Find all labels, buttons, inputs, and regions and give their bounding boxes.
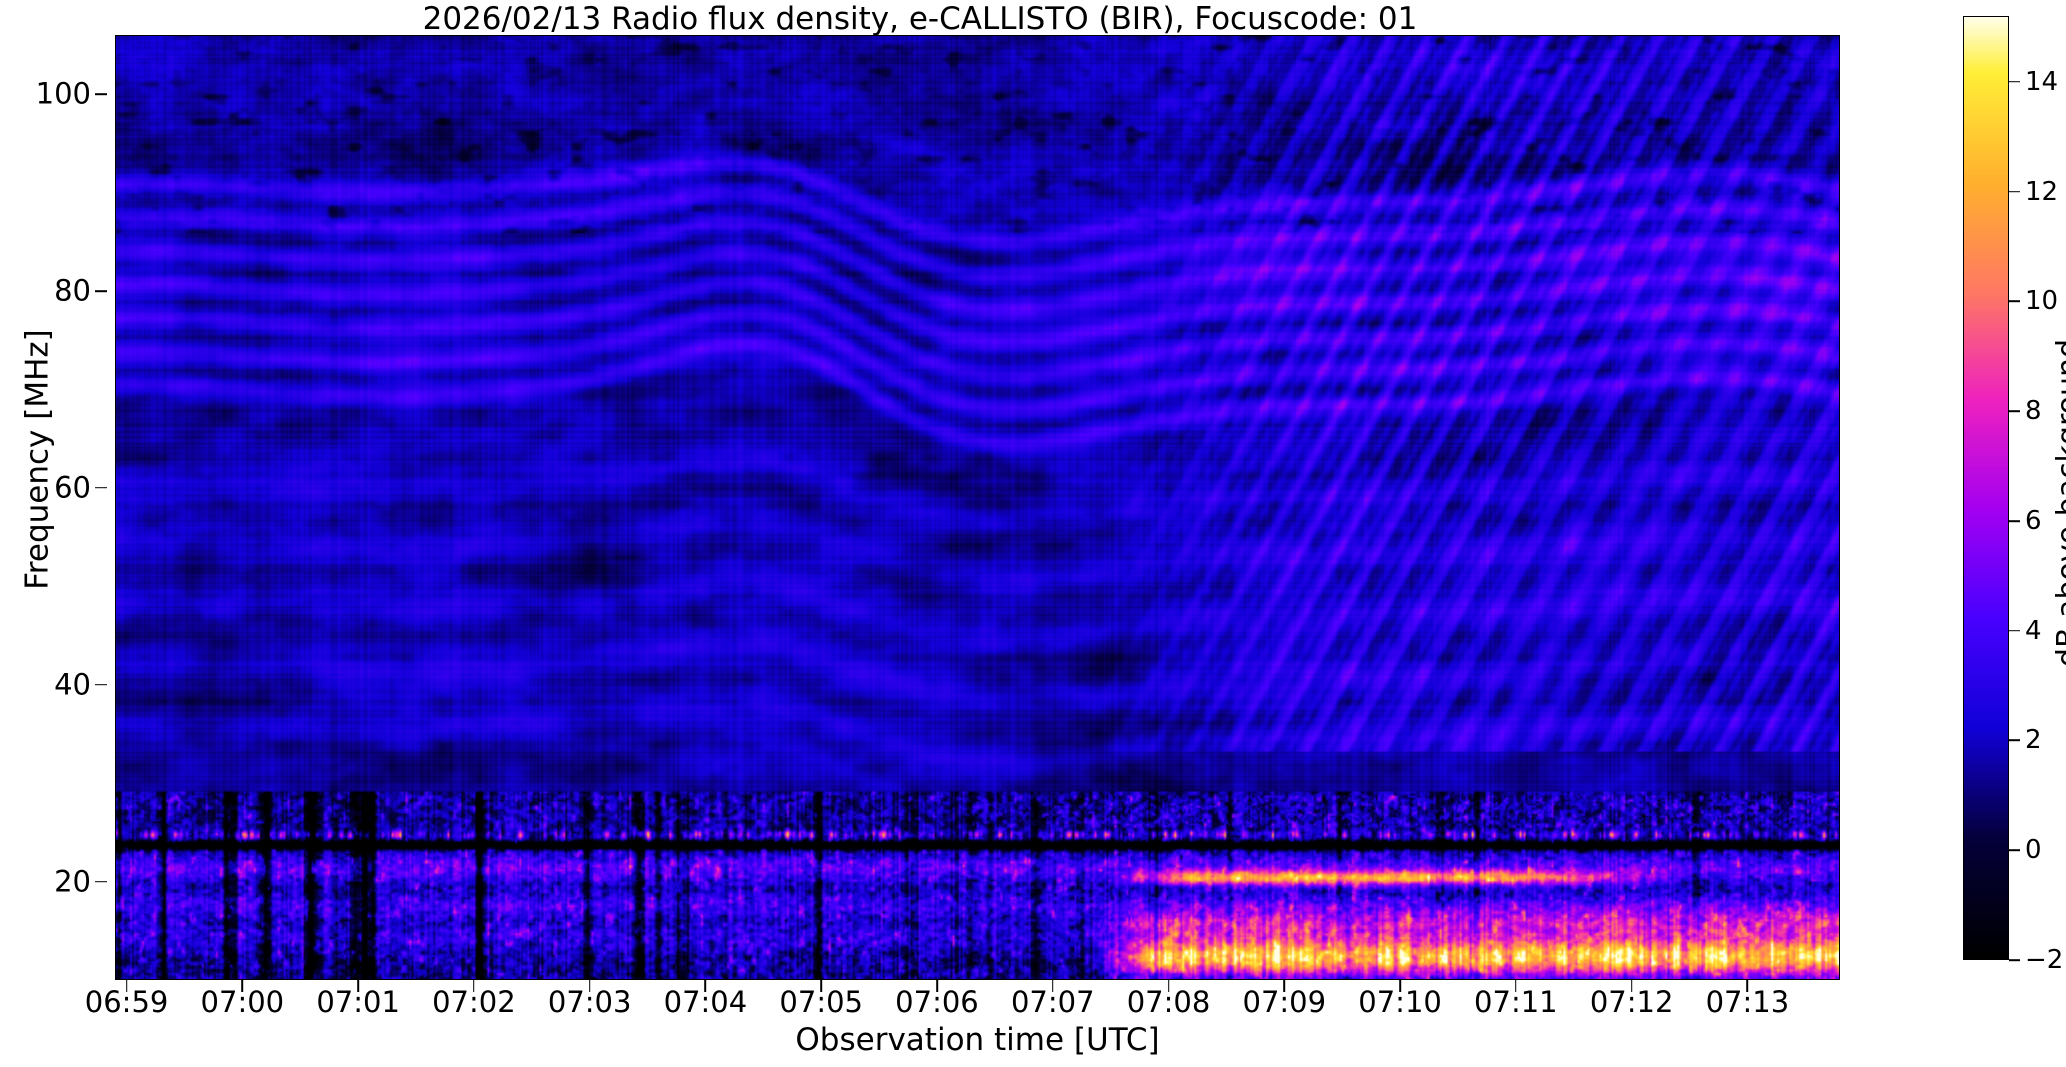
x-tick-mark <box>1399 980 1401 992</box>
colorbar-tick-mark <box>2009 410 2020 412</box>
colorbar-tick-label: 6 <box>2025 508 2042 534</box>
colorbar-tick-label: 8 <box>2025 398 2042 424</box>
x-tick-label: 07:07 <box>1011 988 1095 1017</box>
x-tick-label: 07:11 <box>1474 988 1558 1017</box>
x-tick-mark <box>473 980 475 992</box>
colorbar-title: dB above background <box>2054 263 2066 743</box>
x-tick-mark <box>1052 980 1054 992</box>
spectrogram-image <box>116 36 1839 979</box>
colorbar-tick-mark <box>2009 520 2020 522</box>
colorbar-tick-label: 12 <box>2025 179 2058 205</box>
colorbar-tick-mark <box>2009 81 2020 83</box>
x-tick-label: 07:10 <box>1358 988 1442 1017</box>
colorbar-tick-label: 4 <box>2025 618 2042 644</box>
x-tick-label: 07:12 <box>1590 988 1674 1017</box>
x-tick-label: 07:05 <box>779 988 863 1017</box>
x-tick-mark <box>1168 980 1170 992</box>
colorbar-tick-mark <box>2009 191 2020 193</box>
x-tick-label: 07:04 <box>664 988 748 1017</box>
colorbar-gradient <box>1963 16 2009 960</box>
colorbar-tick-label: 2 <box>2025 727 2042 753</box>
colorbar-tick-label: −2 <box>2025 947 2063 973</box>
colorbar-tick-label: 14 <box>2025 69 2058 95</box>
spectrogram-plot-area[interactable] <box>115 35 1840 980</box>
x-tick-label: 07:02 <box>432 988 516 1017</box>
x-tick-mark <box>1515 980 1517 992</box>
colorbar-tick-mark <box>2009 630 2020 632</box>
x-tick-label: 07:03 <box>548 988 632 1017</box>
x-tick-mark <box>242 980 244 992</box>
x-tick-label: 06:59 <box>85 988 169 1017</box>
x-tick-label: 07:01 <box>316 988 400 1017</box>
colorbar-tick-mark <box>2009 849 2020 851</box>
x-tick-mark <box>1631 980 1633 992</box>
x-tick-label: 07:09 <box>1242 988 1326 1017</box>
x-tick-label: 07:08 <box>1127 988 1211 1017</box>
colorbar-tick-label: 0 <box>2025 837 2042 863</box>
x-tick-mark <box>820 980 822 992</box>
x-tick-mark <box>589 980 591 992</box>
colorbar-tick-mark <box>2009 301 2020 303</box>
x-tick-label: 07:13 <box>1706 988 1790 1017</box>
colorbar-tick-mark <box>2009 959 2020 961</box>
x-tick-mark <box>936 980 938 992</box>
x-axis-title: Observation time [UTC] <box>115 1024 1840 1057</box>
figure-root: 2026/02/13 Radio flux density, e-CALLIST… <box>0 0 2066 1067</box>
x-tick-label: 07:00 <box>201 988 285 1017</box>
colorbar[interactable]: 14121086420−2 <box>1963 16 2009 960</box>
x-tick-mark <box>357 980 359 992</box>
x-tick-mark <box>705 980 707 992</box>
colorbar-tick-mark <box>2009 740 2020 742</box>
x-tick-mark <box>126 980 128 992</box>
x-tick-mark <box>1747 980 1749 992</box>
x-tick-mark <box>1283 980 1285 992</box>
x-tick-label: 07:06 <box>895 988 979 1017</box>
